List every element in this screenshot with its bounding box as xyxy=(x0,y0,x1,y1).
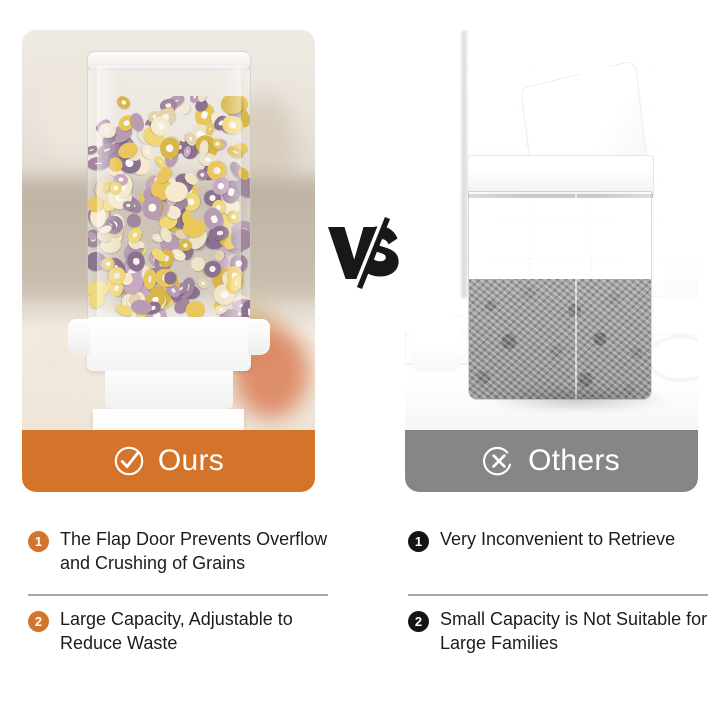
background-object xyxy=(663,141,698,298)
comparison-panel-others: Others xyxy=(405,30,698,492)
feature-text: Large Capacity, Adjustable to Reduce Was… xyxy=(60,608,358,656)
vs-badge xyxy=(326,216,402,290)
list-item: 1 The Flap Door Prevents Overflow and Cr… xyxy=(28,528,358,584)
cereal-flakes xyxy=(469,279,651,399)
ribbon-others: Others xyxy=(405,430,698,492)
ribbon-label-ours: Ours xyxy=(158,446,224,476)
product-photo-others xyxy=(405,30,698,492)
dispenser-wing-left xyxy=(67,319,89,355)
comparison-row: Ours xyxy=(0,0,720,520)
list-item: 1 Very Inconvenient to Retrieve xyxy=(408,528,720,584)
competitor-container xyxy=(467,155,655,400)
feature-text: Small Capacity is Not Suitable for Large… xyxy=(440,608,720,656)
feature-divider xyxy=(408,594,708,596)
container-body xyxy=(468,191,652,399)
feature-list-ours: 1 The Flap Door Prevents Overflow and Cr… xyxy=(28,528,358,664)
ribbon-label-others: Others xyxy=(528,446,620,476)
ribbon-ours: Ours xyxy=(22,430,315,492)
coffee-mug xyxy=(411,298,461,372)
dispenser-wing-right xyxy=(248,319,270,355)
x-circle-icon xyxy=(483,445,515,477)
bullet-number-badge: 2 xyxy=(408,611,429,632)
dispenser-neck xyxy=(105,371,233,409)
dispenser-head xyxy=(86,317,250,371)
feature-list-others: 1 Very Inconvenient to Retrieve 2 Small … xyxy=(408,528,720,664)
list-item: 2 Small Capacity is Not Suitable for Lar… xyxy=(408,608,720,664)
container-rim xyxy=(467,155,655,196)
bullet-number-badge: 1 xyxy=(28,531,49,552)
cereal-dispenser xyxy=(86,51,250,461)
window-light xyxy=(405,30,464,326)
feature-text: The Flap Door Prevents Overflow and Crus… xyxy=(60,528,358,576)
bullet-number-badge: 1 xyxy=(408,531,429,552)
product-photo-ours xyxy=(22,30,315,492)
bullet-number-badge: 2 xyxy=(28,611,49,632)
feature-text: Very Inconvenient to Retrieve xyxy=(440,528,675,552)
check-circle-icon xyxy=(113,445,145,477)
list-item: 2 Large Capacity, Adjustable to Reduce W… xyxy=(28,608,358,664)
feature-divider xyxy=(28,594,328,596)
feature-lists: 1 The Flap Door Prevents Overflow and Cr… xyxy=(0,528,720,720)
comparison-panel-ours: Ours xyxy=(22,30,315,492)
container-handle xyxy=(475,234,534,257)
dispenser-tube xyxy=(86,66,250,319)
